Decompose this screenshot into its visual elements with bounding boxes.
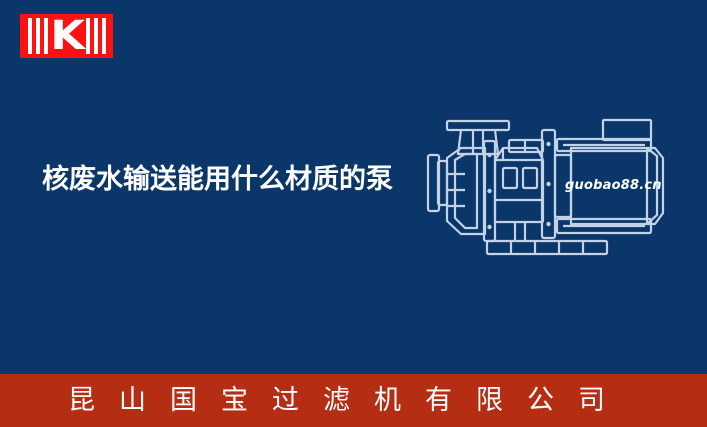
logo-bars-right: [86, 18, 106, 54]
logo-bar: [28, 18, 32, 54]
logo-letter-k: K: [45, 18, 88, 54]
logo-bar: [94, 18, 98, 54]
company-logo[interactable]: K: [20, 14, 113, 58]
promo-banner: K 核废水输送能用什么材质的泵: [0, 0, 707, 427]
logo-bar: [36, 18, 40, 54]
footer-bar: 昆山国宝过滤机有限公司: [0, 374, 707, 427]
headline-title: 核废水输送能用什么材质的泵: [42, 163, 393, 197]
logo-bar: [102, 18, 106, 54]
logo-bars-left: [28, 18, 48, 54]
watermark-text: guobao88.cn: [565, 178, 662, 193]
company-name: 昆山国宝过滤机有限公司: [0, 386, 629, 416]
